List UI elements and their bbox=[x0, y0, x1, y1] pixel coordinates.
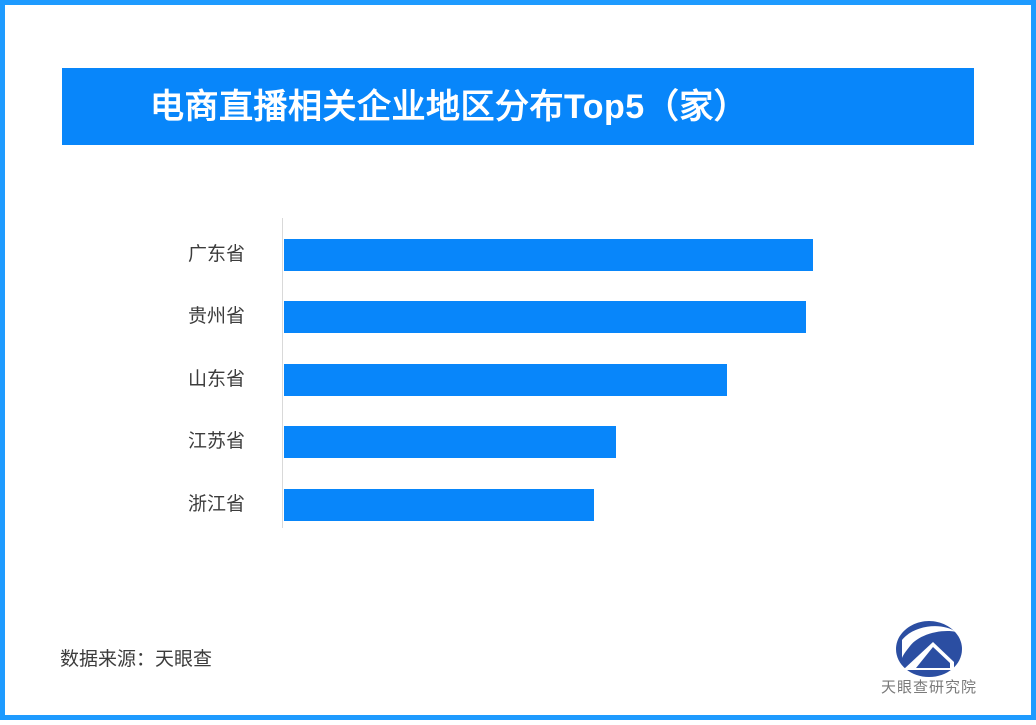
bar-chart: 广东省贵州省山东省江苏省浙江省 bbox=[5, 5, 1036, 725]
bar-category-label: 江苏省 bbox=[188, 426, 272, 458]
bar-category-label: 浙江省 bbox=[188, 489, 272, 521]
bar-rect bbox=[284, 239, 813, 271]
tianyancha-logo: 天眼查研究院 bbox=[870, 620, 988, 708]
bar-rect bbox=[284, 364, 727, 396]
logo-mark-icon bbox=[892, 620, 966, 678]
bar-category-label: 山东省 bbox=[188, 364, 272, 396]
bar-rect bbox=[284, 301, 806, 333]
data-source-label: 数据来源：天眼查 bbox=[60, 650, 212, 669]
bar-category-label: 广东省 bbox=[188, 239, 272, 271]
bar-rect bbox=[284, 489, 594, 521]
y-axis-line bbox=[282, 218, 283, 528]
logo-wordmark: 天眼查研究院 bbox=[870, 680, 988, 697]
bar-rect bbox=[284, 426, 616, 458]
infographic-canvas: 电商直播相关企业地区分布Top5（家） 广东省贵州省山东省江苏省浙江省 数据来源… bbox=[0, 0, 1036, 720]
bar-category-label: 贵州省 bbox=[188, 301, 272, 333]
